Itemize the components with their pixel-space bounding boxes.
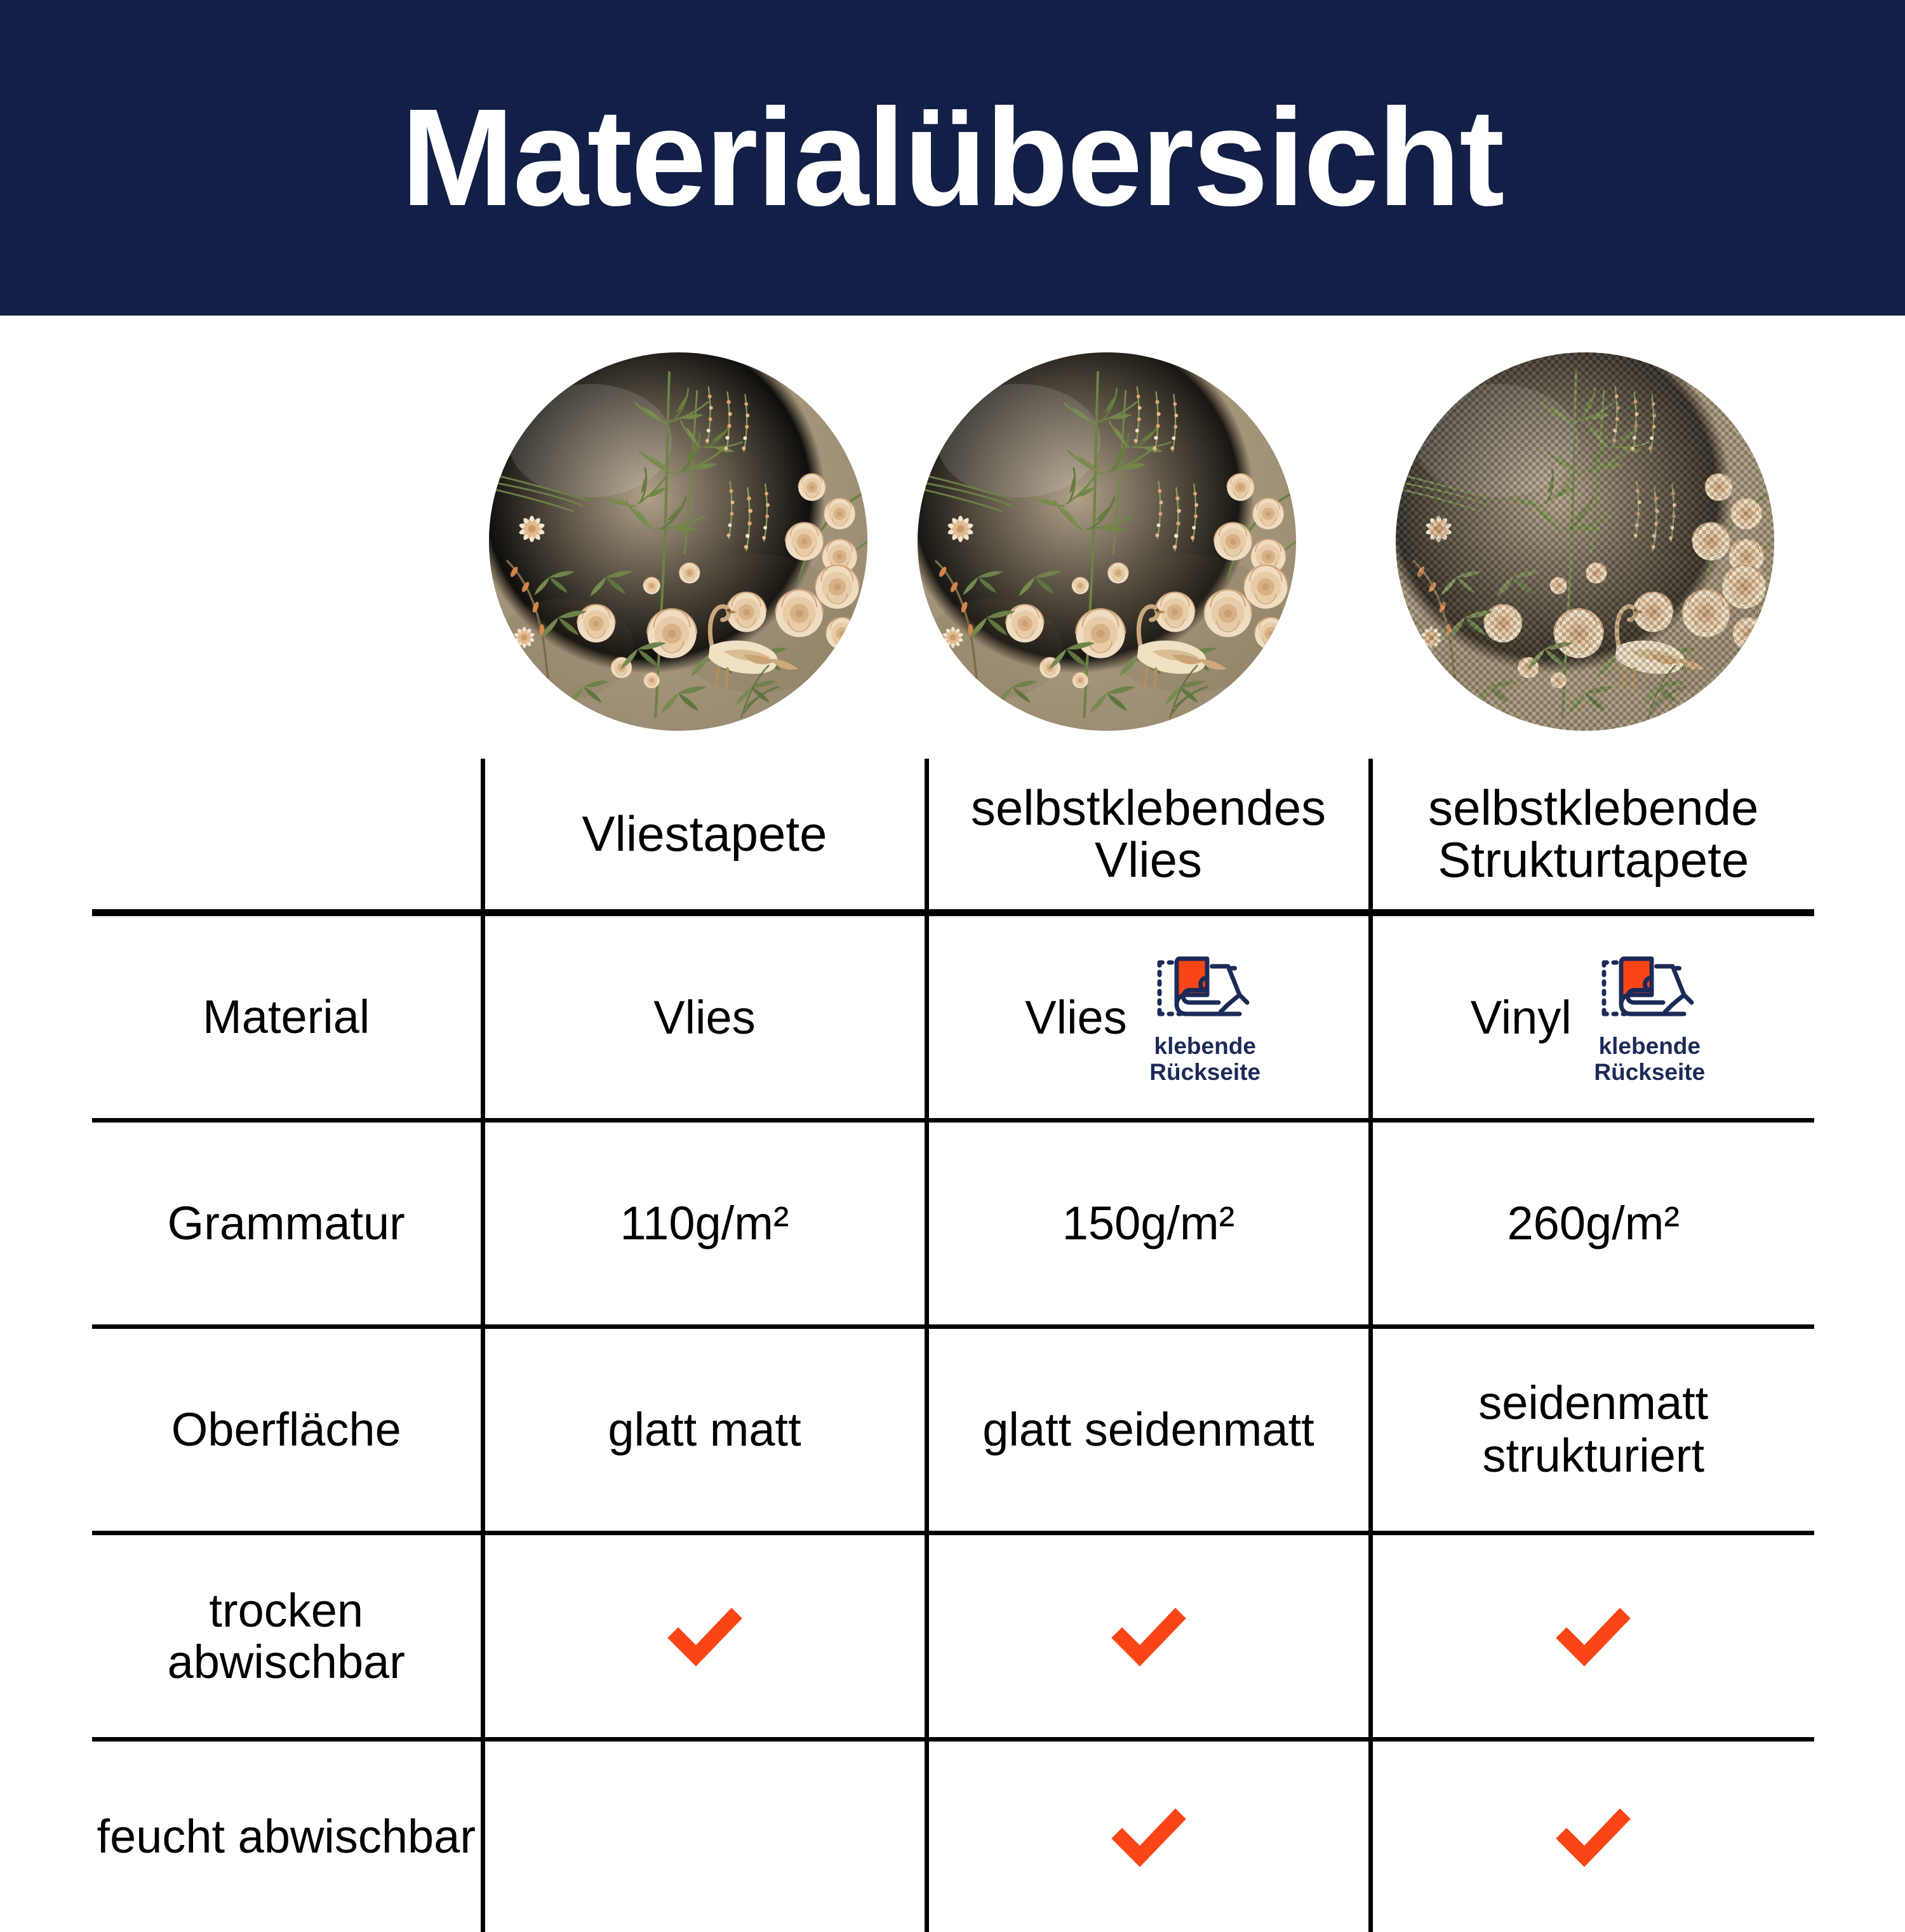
swatch-circle-vliestapete[interactable] xyxy=(489,352,867,731)
cell-material-selbstklebendes-vlies: Vlies xyxy=(926,913,1370,1121)
cell-feucht-selbstklebendes-vlies xyxy=(926,1740,1370,1932)
material-comparison-table: Vliestapete selbstklebendes Vlies selbst… xyxy=(92,759,1814,1932)
page-title: Materialübersicht xyxy=(401,89,1504,227)
row-label-oberflaeche: Oberfläche xyxy=(92,1327,483,1533)
badge-caption: klebende Rückseite xyxy=(1149,1033,1260,1086)
cell-value: Vlies xyxy=(1025,990,1126,1044)
badge-caption-line2: Rückseite xyxy=(1149,1059,1260,1085)
sticky-back-badge: klebende Rückseite xyxy=(1583,949,1716,1086)
cell-grammatur-selbstklebendes-vlies: 150g/m² xyxy=(926,1121,1370,1327)
badge-caption-line1: klebende xyxy=(1599,1033,1701,1059)
chinoiserie-pattern-art xyxy=(489,352,867,731)
cell-oberflaeche-selbstklebendes-vlies: glatt seidenmatt xyxy=(926,1327,1370,1533)
check-icon xyxy=(1104,1801,1193,1872)
swatch-circle-selbstklebende-strukturtapete[interactable] xyxy=(1396,352,1774,731)
row-label-trocken-abwischbar: trocken abwischbar xyxy=(92,1533,483,1740)
cell-material-selbstklebende-strukturtapete: Vinyl xyxy=(1370,913,1814,1121)
table-row-feucht-abwischbar: feucht abwischbar xyxy=(92,1740,1814,1932)
column-header-selbstklebende-strukturtapete: selbstklebende Strukturtapete xyxy=(1370,759,1814,913)
cell-material-vliestapete: Vlies xyxy=(483,913,926,1121)
check-icon xyxy=(1549,1601,1638,1672)
badge-caption-line1: klebende xyxy=(1154,1033,1256,1059)
corner-cell xyxy=(92,759,483,913)
table-row-grammatur: Grammatur 110g/m² 150g/m² 260g/m² xyxy=(92,1121,1814,1327)
column-header-selbstklebendes-vlies: selbstklebendes Vlies xyxy=(926,759,1370,913)
badge-caption-line2: Rückseite xyxy=(1594,1059,1705,1085)
cell-feucht-selbstklebende-strukturtapete xyxy=(1370,1740,1814,1932)
table-row-material: Material Vlies Vlies xyxy=(92,913,1814,1121)
table-row-oberflaeche: Oberfläche glatt matt glatt seidenmatt s… xyxy=(92,1327,1814,1533)
peel-sticky-back-icon xyxy=(1593,949,1707,1029)
cell-trocken-vliestapete xyxy=(483,1533,926,1740)
cell-value: Vlies xyxy=(653,990,755,1044)
row-label-grammatur: Grammatur xyxy=(92,1121,483,1327)
cell-value: Vinyl xyxy=(1471,990,1572,1044)
cell-oberflaeche-vliestapete: glatt matt xyxy=(483,1327,926,1533)
cell-trocken-selbstklebende-strukturtapete xyxy=(1370,1533,1814,1740)
cell-grammatur-vliestapete: 110g/m² xyxy=(483,1121,926,1327)
check-icon xyxy=(1549,1801,1638,1872)
cell-trocken-selbstklebendes-vlies xyxy=(926,1533,1370,1740)
row-label-material: Material xyxy=(92,913,483,1121)
column-header-vliestapete: Vliestapete xyxy=(483,759,926,913)
swatch-circle-selbstklebendes-vlies[interactable] xyxy=(918,352,1296,731)
chinoiserie-pattern-art xyxy=(918,352,1296,731)
check-icon xyxy=(660,1601,749,1672)
check-icon xyxy=(1104,1601,1193,1672)
header-banner: Materialübersicht xyxy=(0,0,1905,316)
badge-caption: klebende Rückseite xyxy=(1594,1033,1705,1086)
cell-grammatur-selbstklebende-strukturtapete: 260g/m² xyxy=(1370,1121,1814,1327)
cell-oberflaeche-selbstklebende-strukturtapete: seidenmatt strukturiert xyxy=(1370,1327,1814,1533)
row-label-feucht-abwischbar: feucht abwischbar xyxy=(92,1740,483,1932)
table-header-row: Vliestapete selbstklebendes Vlies selbst… xyxy=(92,759,1814,913)
cell-feucht-vliestapete xyxy=(483,1740,926,1932)
sticky-back-badge: klebende Rückseite xyxy=(1139,949,1272,1086)
table-row-trocken-abwischbar: trocken abwischbar xyxy=(92,1533,1814,1740)
peel-sticky-back-icon xyxy=(1148,949,1262,1029)
swatch-circles-row xyxy=(0,352,1905,733)
chinoiserie-pattern-art xyxy=(1396,352,1774,731)
